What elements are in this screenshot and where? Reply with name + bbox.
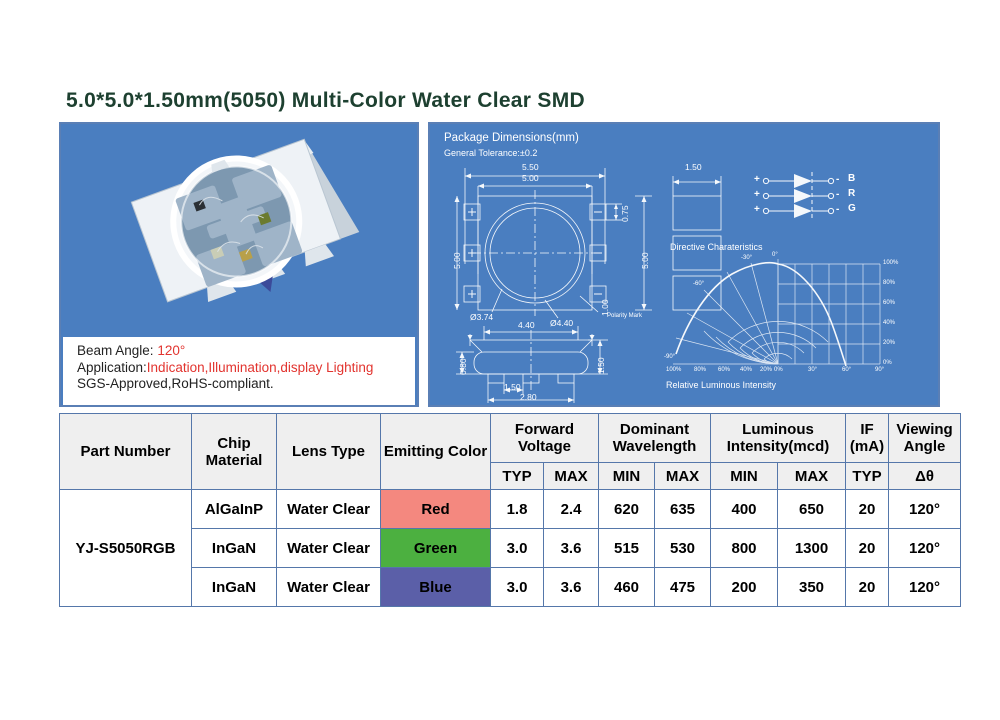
application-line: Application:Indication,Illumination,disp… bbox=[77, 360, 415, 377]
dim-5.50: 5.50 bbox=[522, 162, 539, 172]
cell-emitting-color: Green bbox=[381, 529, 491, 568]
cell-iv-max: 1300 bbox=[778, 529, 846, 568]
cell-vf-typ: 1.8 bbox=[491, 490, 544, 529]
circuit-minus-g: - bbox=[836, 204, 839, 215]
polarity-mark-label: Polarity Mark bbox=[607, 313, 642, 319]
circuit-label-g: G bbox=[848, 203, 856, 214]
polar-angle-neg90: -90° bbox=[664, 354, 675, 360]
general-tolerance-label: General Tolerance:±0.2 bbox=[444, 148, 537, 158]
sub-header-wl-max: MAX bbox=[655, 463, 711, 490]
cell-iv-min: 200 bbox=[711, 568, 778, 607]
package-dimensions-heading: Package Dimensions(mm) bbox=[444, 132, 579, 144]
beam-angle-label: Beam Angle: bbox=[77, 343, 154, 358]
polar-angle-neg30: -30° bbox=[741, 255, 752, 261]
col-header-chip-material: Chip Material bbox=[192, 414, 277, 490]
cell-chip-material: InGaN bbox=[192, 568, 277, 607]
polar-pct-0: 0% bbox=[883, 360, 892, 366]
circuit-label-b: B bbox=[848, 173, 855, 184]
col-header-dominant-wavelength: Dominant Wavelength bbox=[599, 414, 711, 463]
dim-2.80: 2.80 bbox=[520, 392, 537, 402]
dim-1.50-gap: 1.50 bbox=[504, 382, 521, 392]
cell-lens-type: Water Clear bbox=[277, 529, 381, 568]
circuit-plus-b: + bbox=[754, 174, 760, 185]
cell-wl-min: 460 bbox=[599, 568, 655, 607]
polar-bottom-pct-100: 100% bbox=[666, 367, 681, 373]
cell-wl-max: 635 bbox=[655, 490, 711, 529]
polar-chart-title: Directive Charateristics bbox=[670, 242, 763, 252]
polar-angle-0: 0° bbox=[772, 252, 778, 258]
polar-chart-xlabel: Relative Luminous Intensity bbox=[666, 380, 776, 390]
dim-5.00-top: 5.00 bbox=[522, 173, 539, 183]
polar-angle-30: 30° bbox=[808, 367, 817, 373]
led-photo-svg bbox=[61, 124, 417, 339]
cell-vf-typ: 3.0 bbox=[491, 529, 544, 568]
polar-pct-60: 60% bbox=[883, 300, 895, 306]
cell-viewing-angle: 120° bbox=[889, 568, 961, 607]
polar-pct-40: 40% bbox=[883, 320, 895, 326]
col-header-forward-voltage: Forward Voltage bbox=[491, 414, 599, 463]
col-header-viewing-angle: Viewing Angle bbox=[889, 414, 961, 463]
dim-4.40-bottom: 4.40 bbox=[518, 320, 535, 330]
dim-lens-inner-dia: Ø3.74 bbox=[470, 312, 493, 322]
package-drawing-svg bbox=[430, 124, 938, 405]
package-dimensions-panel: Package Dimensions(mm) General Tolerance… bbox=[428, 122, 940, 407]
circuit-minus-b: - bbox=[836, 174, 839, 185]
table-row: InGaN Water Clear Green 3.0 3.6 515 530 … bbox=[60, 529, 961, 568]
cell-chip-material: InGaN bbox=[192, 529, 277, 568]
cell-chip-material: AlGaInP bbox=[192, 490, 277, 529]
sub-header-vf-typ: TYP bbox=[491, 463, 544, 490]
cell-iv-min: 400 bbox=[711, 490, 778, 529]
cell-vf-max: 3.6 bbox=[544, 529, 599, 568]
cell-if-typ: 20 bbox=[846, 490, 889, 529]
application-label: Application: bbox=[77, 360, 147, 375]
table-row: YJ-S5050RGB AlGaInP Water Clear Red 1.8 … bbox=[60, 490, 961, 529]
polar-angle-60: 60° bbox=[842, 367, 851, 373]
circuit-label-r: R bbox=[848, 188, 855, 199]
application-value: Indication,Illumination,display Lighting bbox=[147, 360, 374, 375]
cell-lens-type: Water Clear bbox=[277, 568, 381, 607]
polar-angle-neg60: -60° bbox=[693, 281, 704, 287]
cell-lens-type: Water Clear bbox=[277, 490, 381, 529]
dim-1.50-side: 1.50 bbox=[685, 162, 702, 172]
polar-bottom-pct-0: 0% bbox=[774, 367, 783, 373]
polar-angle-90: 90° bbox=[875, 367, 884, 373]
certification-line: SGS-Approved,RoHS-compliant. bbox=[77, 376, 415, 393]
cell-iv-min: 800 bbox=[711, 529, 778, 568]
dim-0.75: 0.75 bbox=[620, 205, 630, 222]
cell-iv-max: 650 bbox=[778, 490, 846, 529]
sub-header-iv-min: MIN bbox=[711, 463, 778, 490]
dim-5.00-right: 5.00 bbox=[640, 252, 650, 269]
beam-angle-value: 120° bbox=[157, 343, 185, 358]
col-header-emitting-color: Emitting Color bbox=[381, 414, 491, 490]
cell-wl-min: 515 bbox=[599, 529, 655, 568]
circuit-plus-g: + bbox=[754, 204, 760, 215]
cell-vf-max: 3.6 bbox=[544, 568, 599, 607]
datasheet-page: 5.0*5.0*1.50mm(5050) Multi-Color Water C… bbox=[0, 0, 1000, 720]
sub-header-vf-max: MAX bbox=[544, 463, 599, 490]
table-row: InGaN Water Clear Blue 3.0 3.6 460 475 2… bbox=[60, 568, 961, 607]
dim-0.80: 0.80 bbox=[458, 358, 468, 375]
circuit-minus-r: - bbox=[836, 189, 839, 200]
product-caption: Beam Angle: 120° Application:Indication,… bbox=[63, 337, 415, 405]
cell-vf-typ: 3.0 bbox=[491, 568, 544, 607]
led-product-photo bbox=[61, 124, 417, 339]
cell-wl-min: 620 bbox=[599, 490, 655, 529]
sub-header-iv-max: MAX bbox=[778, 463, 846, 490]
sub-header-if-typ: TYP bbox=[846, 463, 889, 490]
cell-viewing-angle: 120° bbox=[889, 529, 961, 568]
product-photo-panel: Beam Angle: 120° Application:Indication,… bbox=[59, 122, 419, 407]
cell-wl-max: 475 bbox=[655, 568, 711, 607]
sub-header-wl-min: MIN bbox=[599, 463, 655, 490]
polar-pct-80: 80% bbox=[883, 280, 895, 286]
specification-table: Part Number Chip Material Lens Type Emit… bbox=[59, 413, 961, 607]
cell-vf-max: 2.4 bbox=[544, 490, 599, 529]
cell-iv-max: 350 bbox=[778, 568, 846, 607]
dim-5.00-left: 5.00 bbox=[452, 252, 462, 269]
beam-angle-line: Beam Angle: 120° bbox=[77, 343, 415, 360]
col-header-luminous-intensity: Luminous Intensity(mcd) bbox=[711, 414, 846, 463]
page-title: 5.0*5.0*1.50mm(5050) Multi-Color Water C… bbox=[66, 89, 585, 113]
polar-pct-20: 20% bbox=[883, 340, 895, 346]
polar-pct-100: 100% bbox=[883, 260, 898, 266]
sub-header-delta-theta: Δθ bbox=[889, 463, 961, 490]
polar-bottom-pct-40: 40% bbox=[740, 367, 752, 373]
col-header-part-number: Part Number bbox=[60, 414, 192, 490]
polar-bottom-pct-20: 20% bbox=[760, 367, 772, 373]
dim-lens-outer-dia: Ø4.40 bbox=[550, 318, 573, 328]
polar-bottom-pct-80: 80% bbox=[694, 367, 706, 373]
circuit-plus-r: + bbox=[754, 189, 760, 200]
cell-part-number: YJ-S5050RGB bbox=[60, 490, 192, 607]
cell-wl-max: 530 bbox=[655, 529, 711, 568]
cell-emitting-color: Red bbox=[381, 490, 491, 529]
cell-viewing-angle: 120° bbox=[889, 490, 961, 529]
dim-1.50-height: 1.50 bbox=[596, 357, 606, 374]
col-header-if: IF (mA) bbox=[846, 414, 889, 463]
polar-bottom-pct-60: 60% bbox=[718, 367, 730, 373]
col-header-lens-type: Lens Type bbox=[277, 414, 381, 490]
cell-emitting-color: Blue bbox=[381, 568, 491, 607]
cell-if-typ: 20 bbox=[846, 568, 889, 607]
cell-if-typ: 20 bbox=[846, 529, 889, 568]
